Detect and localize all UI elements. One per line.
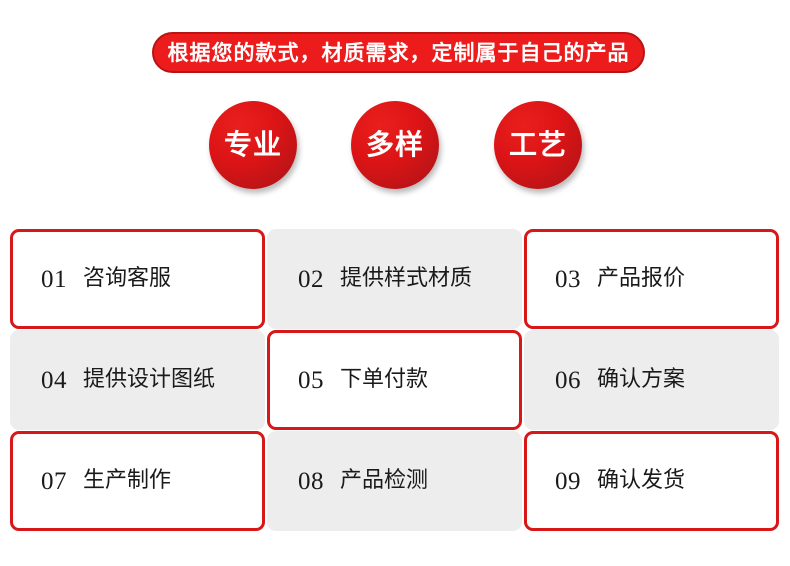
feature-badge-row: 专业 多样 工艺 — [0, 101, 790, 193]
process-step-grid: 01 咨询客服 02 提供样式材质 03 产品报价 04 提供设计图纸 05 下… — [10, 229, 780, 531]
step-label: 产品报价 — [597, 268, 685, 290]
step-label: 确认发货 — [597, 470, 685, 492]
step-number: 01 — [41, 267, 67, 292]
step-number: 02 — [298, 267, 324, 292]
headline-banner-text: 根据您的款式，材质需求，定制属于自己的产品 — [168, 42, 630, 63]
feature-badge-label: 工艺 — [509, 131, 567, 159]
feature-badge-label: 多样 — [366, 131, 424, 159]
feature-badge-工艺: 工艺 — [494, 101, 582, 189]
step-number: 05 — [298, 368, 324, 393]
step-cell-06: 06 确认方案 — [524, 330, 779, 430]
promo-graphic: 根据您的款式，材质需求，定制属于自己的产品 专业 多样 工艺 01 咨询客服 0… — [0, 0, 790, 566]
step-number: 09 — [555, 469, 581, 494]
step-number: 06 — [555, 368, 581, 393]
step-cell-05: 05 下单付款 — [267, 330, 522, 430]
step-label: 下单付款 — [340, 369, 428, 391]
step-cell-09: 09 确认发货 — [524, 431, 779, 531]
step-number: 08 — [298, 469, 324, 494]
step-cell-03: 03 产品报价 — [524, 229, 779, 329]
step-cell-07: 07 生产制作 — [10, 431, 265, 531]
step-label: 提供样式材质 — [340, 268, 472, 290]
step-cell-04: 04 提供设计图纸 — [10, 330, 265, 430]
feature-badge-多样: 多样 — [351, 101, 439, 189]
step-label: 提供设计图纸 — [83, 369, 215, 391]
step-cell-08: 08 产品检测 — [267, 431, 522, 531]
step-cell-01: 01 咨询客服 — [10, 229, 265, 329]
step-label: 确认方案 — [597, 369, 685, 391]
feature-badge-label: 专业 — [224, 131, 282, 159]
step-number: 07 — [41, 469, 67, 494]
headline-banner: 根据您的款式，材质需求，定制属于自己的产品 — [152, 32, 645, 73]
step-label: 咨询客服 — [83, 268, 171, 290]
step-cell-02: 02 提供样式材质 — [267, 229, 522, 329]
step-number: 03 — [555, 267, 581, 292]
step-label: 生产制作 — [83, 470, 171, 492]
feature-badge-专业: 专业 — [209, 101, 297, 189]
step-number: 04 — [41, 368, 67, 393]
step-label: 产品检测 — [340, 470, 428, 492]
